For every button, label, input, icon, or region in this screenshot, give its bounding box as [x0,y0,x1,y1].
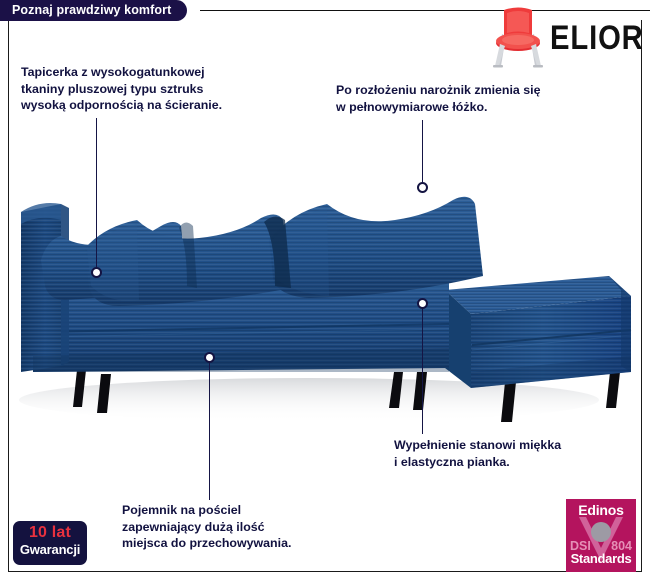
product-infographic: Poznaj prawdziwy komfort ELIOR [0,0,650,580]
red-chair-icon [488,6,548,68]
callout-text-bedding-storage: Pojemnik na pościel zapewniający dużą il… [122,502,291,552]
callout-leader-unfolds-to-bed [422,120,423,189]
warranty-badge: 10 lat Gwarancji [13,521,87,565]
warranty-sub: Gwarancji [13,541,87,558]
brand-wordmark: ELIOR [550,19,644,58]
edinos-standards: Standards [566,551,636,566]
edinos-brand: Edinos [566,502,636,518]
callout-leader-upholstery [96,118,97,274]
sofa-illustration [9,100,641,440]
callout-leader-bedding-storage [209,362,210,500]
callout-dot-foam-filling[interactable] [417,298,428,309]
warranty-years: 10 lat [13,524,87,541]
callout-dot-upholstery[interactable] [91,267,102,278]
brand-logo: ELIOR [488,6,642,68]
header-banner-title: Poznaj prawdziwy komfort [12,3,171,17]
callout-dot-bedding-storage[interactable] [204,352,215,363]
callout-text-unfolds-to-bed: Po rozłożeniu narożnik zmienia się w peł… [336,82,541,115]
callout-text-foam-filling: Wypełnienie stanowi miękka i elastyczna … [394,437,561,470]
header-banner: Poznaj prawdziwy komfort [0,0,187,21]
edinos-standards-badge: Edinos DSI 804 Standards [566,499,636,572]
callout-dot-unfolds-to-bed[interactable] [417,182,428,193]
callout-leader-foam-filling [422,306,423,434]
callout-text-upholstery: Tapicerka z wysokogatunkowej tkaniny plu… [21,64,222,114]
